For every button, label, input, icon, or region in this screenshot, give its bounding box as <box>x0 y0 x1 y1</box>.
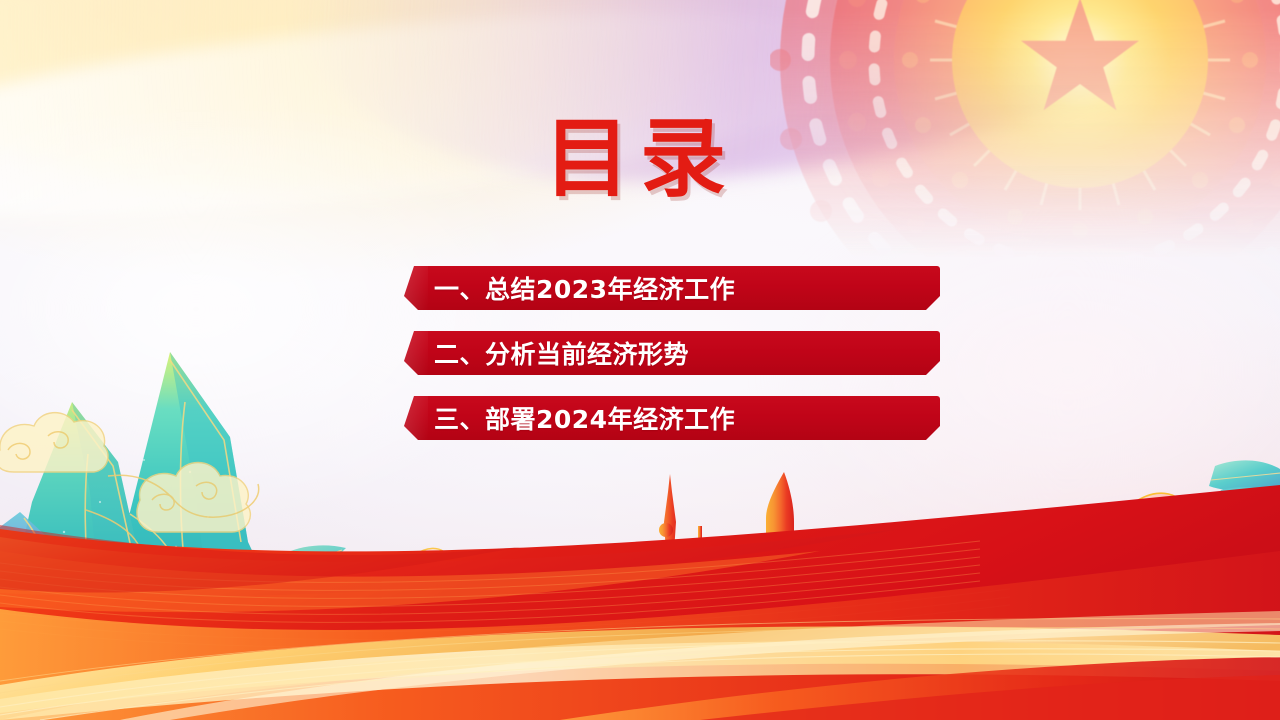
table-of-contents: 一、总结2023年经济工作 二、分析当前经济形势 三、部署2024年经济工作 <box>404 266 940 440</box>
mountain-landscape-icon <box>0 342 400 632</box>
red-gold-ribbon-wave-icon <box>0 485 1280 720</box>
five-point-star-icon <box>1021 0 1139 110</box>
auspicious-cloud-icon <box>0 380 320 570</box>
toc-item-3-label: 三、部署2024年经济工作 <box>404 400 735 436</box>
peony-flower-icon <box>965 420 1280 650</box>
china-city-skyline-icon <box>420 452 850 642</box>
peony-flower-icon <box>250 492 520 642</box>
page-title: 目录 <box>0 116 1280 202</box>
toc-item-2-label: 二、分析当前经济形势 <box>404 335 689 371</box>
toc-item-3[interactable]: 三、部署2024年经济工作 <box>404 396 940 440</box>
toc-item-1[interactable]: 一、总结2023年经济工作 <box>404 266 940 310</box>
toc-item-2[interactable]: 二、分析当前经济形势 <box>404 331 940 375</box>
toc-item-1-label: 一、总结2023年经济工作 <box>404 270 735 306</box>
presentation-slide: 目录 一、总结2023年经济工作 二、分析当前经济形势 三、部署2024年经济工… <box>0 0 1280 720</box>
